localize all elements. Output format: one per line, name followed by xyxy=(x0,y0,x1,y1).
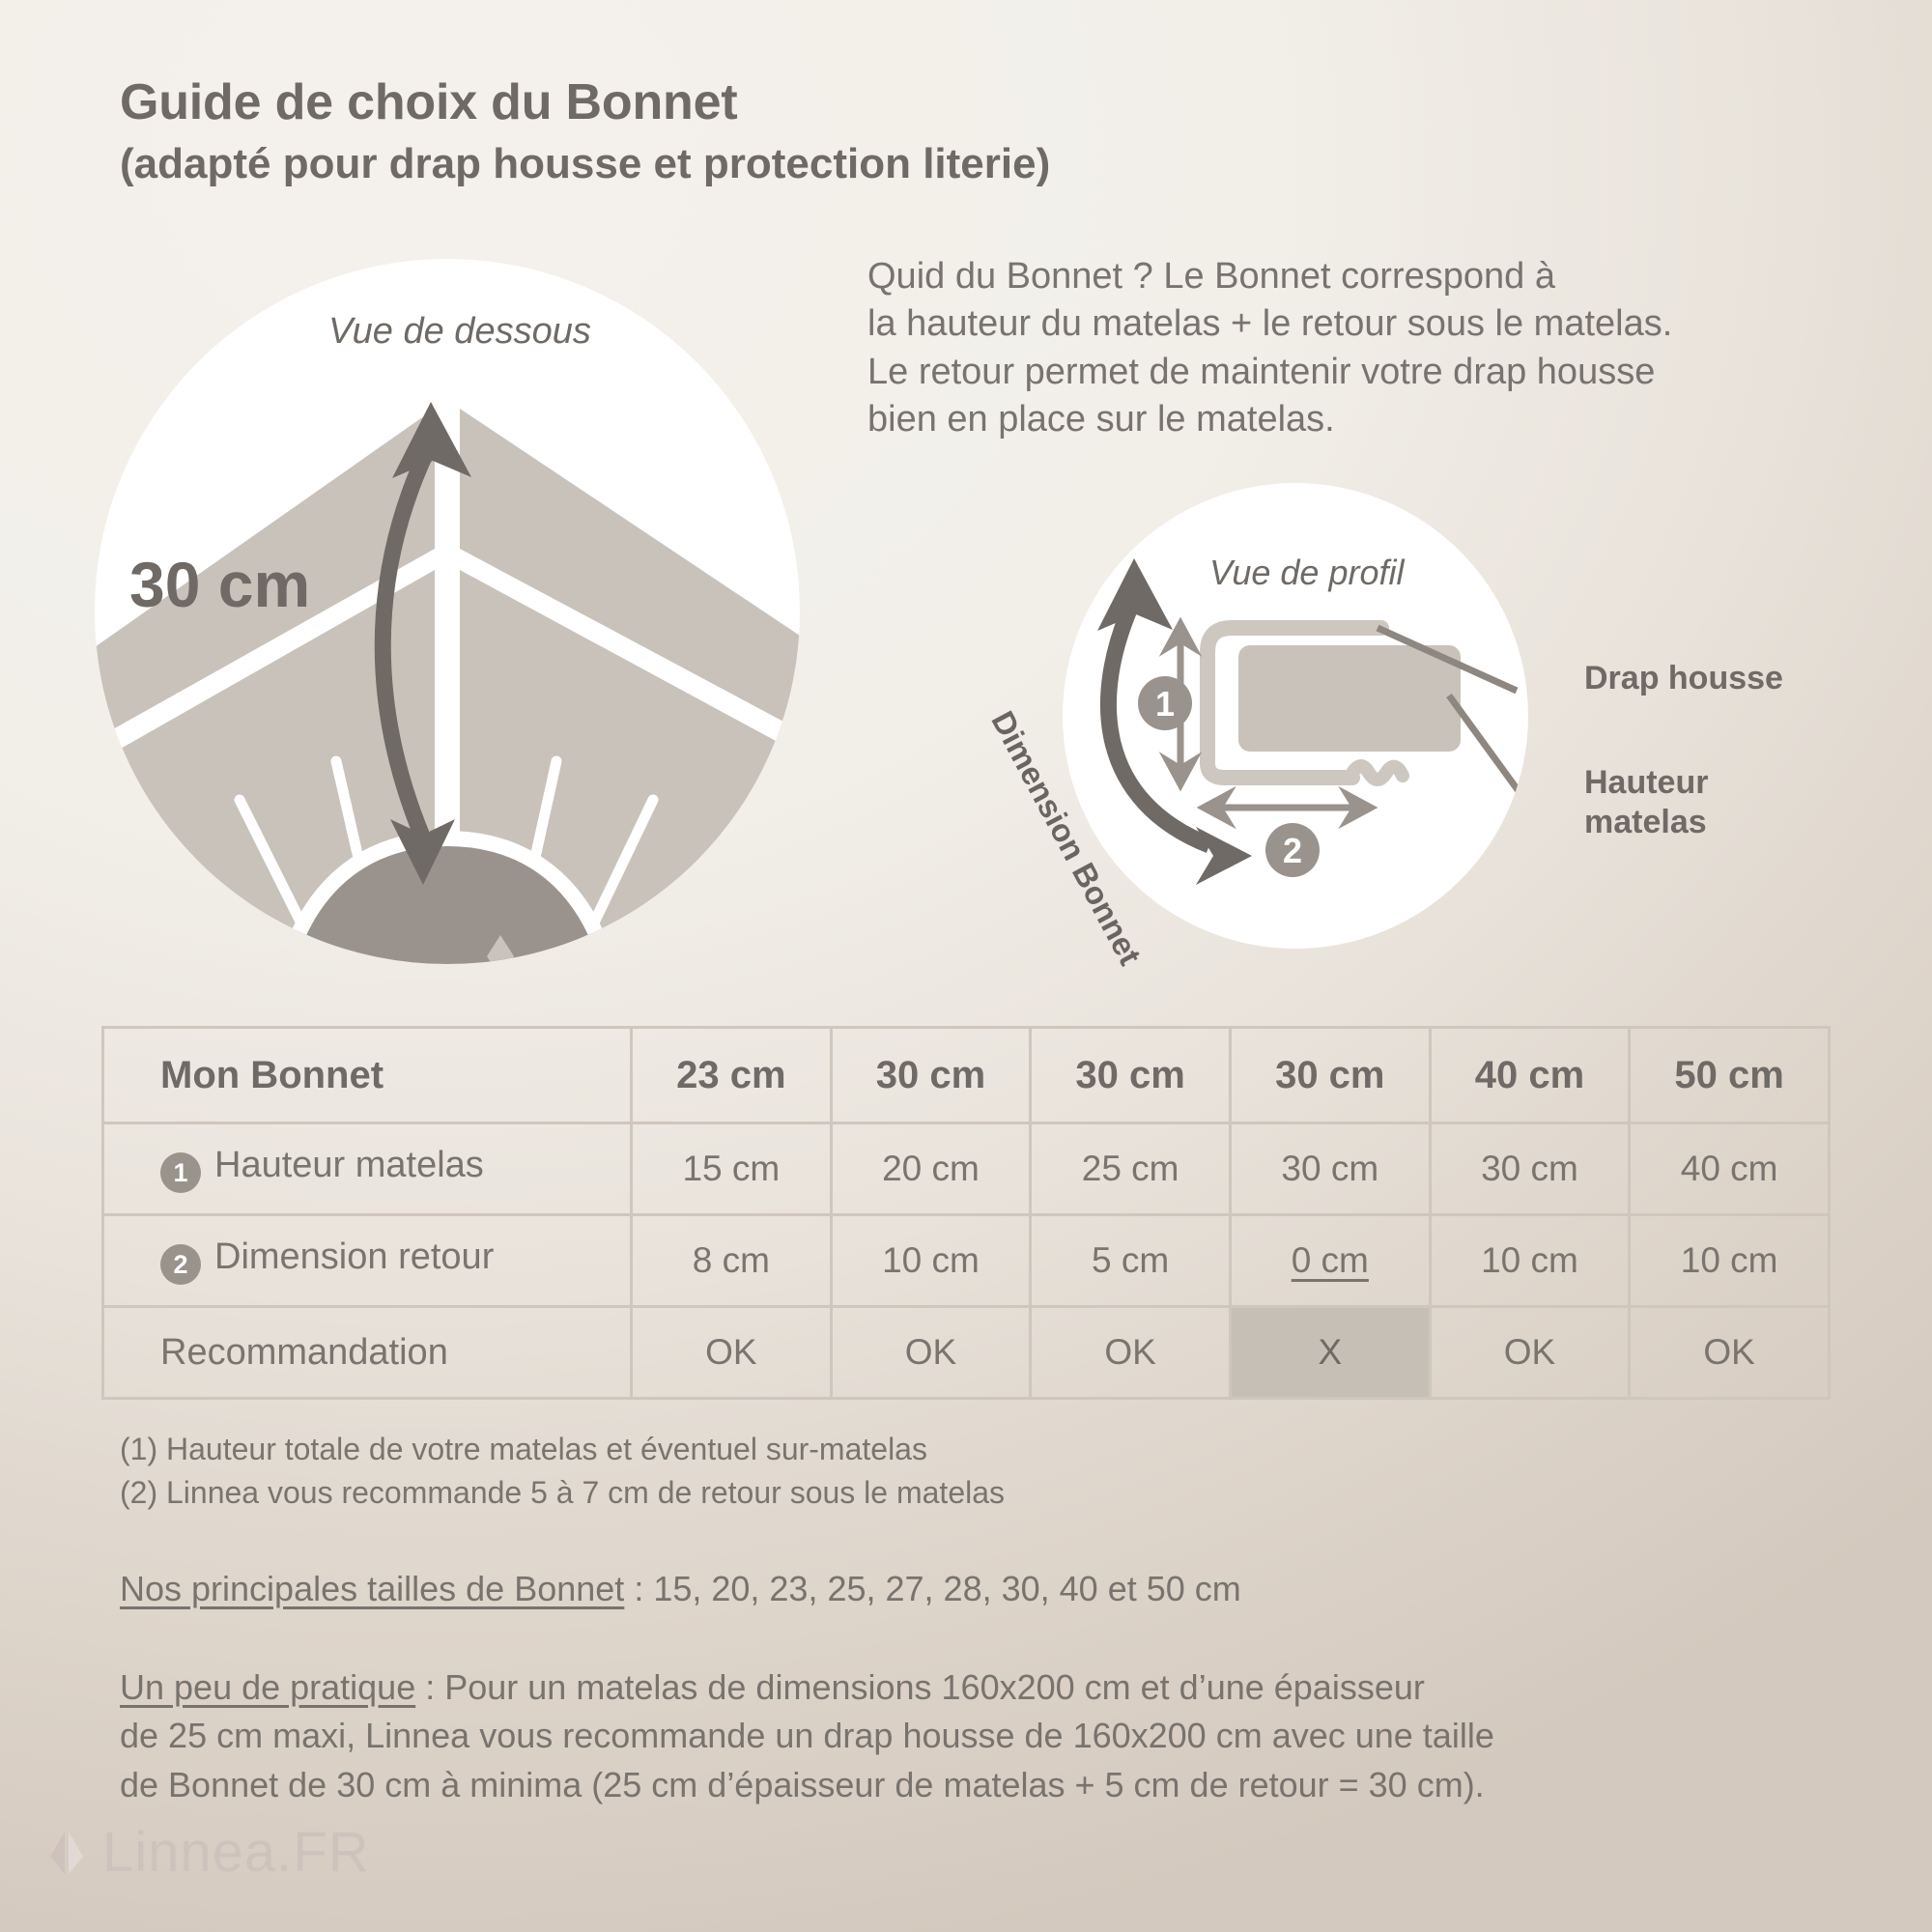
cell-r1c5: 30 cm xyxy=(1430,1123,1630,1215)
practice-line-2: de 25 cm maxi, Linnea vous recommande un… xyxy=(120,1712,1849,1760)
table-row: Recommandation OK OK OK X OK OK xyxy=(103,1307,1830,1399)
callout-hauteur-matelas: Hauteur matelas xyxy=(1584,763,1708,843)
table-header-cell-2: 30 cm xyxy=(831,1028,1031,1123)
cell-r2c3: 5 cm xyxy=(1031,1215,1231,1307)
profile-view-label: Vue de profil xyxy=(1209,553,1404,593)
cell-r3c1: OK xyxy=(632,1307,832,1399)
row-label-dimension-retour: 2Dimension retour xyxy=(103,1215,632,1307)
practice-line-1: Un peu de pratique : Pour un matelas de … xyxy=(120,1663,1849,1712)
table-header-row: Mon Bonnet 23 cm 30 cm 30 cm 30 cm 40 cm… xyxy=(103,1028,1830,1123)
intro-line-2: la hauteur du matelas + le retour sous l… xyxy=(867,300,1824,348)
cell-r3c3: OK xyxy=(1031,1307,1231,1399)
linnea-logo[interactable]: Linnea.FR xyxy=(44,1820,370,1885)
cell-r2c1: 8 cm xyxy=(632,1215,832,1307)
intro-paragraph: Quid du Bonnet ? Le Bonnet correspond à … xyxy=(867,253,1824,444)
practice-line-3: de Bonnet de 30 cm à minima (25 cm d’épa… xyxy=(120,1761,1849,1809)
callout-drap-housse: Drap housse xyxy=(1584,659,1783,698)
available-sizes-line: Nos principales tailles de Bonnet : 15, … xyxy=(120,1569,1241,1609)
cell-r3c2: OK xyxy=(831,1307,1031,1399)
cell-r3c5: OK xyxy=(1430,1307,1630,1399)
cell-r2c4-value: 0 cm xyxy=(1292,1240,1369,1280)
table-header-cell-4: 30 cm xyxy=(1230,1028,1430,1123)
row-label-hauteur-matelas: 1Hauteur matelas xyxy=(103,1123,632,1215)
callout-hauteur-line-2: matelas xyxy=(1584,803,1708,842)
cell-r1c1: 15 cm xyxy=(632,1123,832,1215)
bonnet-comparison-table: Mon Bonnet 23 cm 30 cm 30 cm 30 cm 40 cm… xyxy=(101,1026,1831,1400)
intro-line-3: Le retour permet de maintenir votre drap… xyxy=(867,349,1824,396)
cell-r3c6: OK xyxy=(1630,1307,1830,1399)
linnea-logo-text: Linnea.FR xyxy=(102,1820,370,1885)
mattress-block xyxy=(1238,645,1461,752)
page-header: Guide de choix du Bonnet (adapté pour dr… xyxy=(120,75,1050,187)
table-header-cell-5: 40 cm xyxy=(1430,1028,1630,1123)
available-sizes-values: : 15, 20, 23, 25, 27, 28, 30, 40 et 50 c… xyxy=(624,1569,1240,1608)
callout-hauteur-line-1: Hauteur xyxy=(1584,763,1708,803)
page-subtitle: (adapté pour drap housse et protection l… xyxy=(120,141,1050,187)
cell-r2c2: 10 cm xyxy=(831,1215,1031,1307)
table-header-cell-3: 30 cm xyxy=(1031,1028,1231,1123)
intro-line-1: Quid du Bonnet ? Le Bonnet correspond à xyxy=(867,253,1824,300)
svg-text:2: 2 xyxy=(1283,831,1302,870)
row-label-text: Dimension retour xyxy=(214,1236,494,1277)
practice-line-1-rest: : Pour un matelas de dimensions 160x200 … xyxy=(415,1667,1425,1707)
intro-line-4: bien en place sur le matelas. xyxy=(867,396,1824,443)
row-label-text: Hauteur matelas xyxy=(214,1145,484,1185)
bonnet-measure-value: 30 cm xyxy=(129,548,310,621)
table-row: 2Dimension retour 8 cm 10 cm 5 cm 0 cm 1… xyxy=(103,1215,1830,1307)
cell-r3c4-not-recommended: X xyxy=(1230,1307,1430,1399)
linnea-mark-icon xyxy=(44,1828,89,1878)
bottom-view-label: Vue de dessous xyxy=(328,311,591,353)
cell-r2c5: 10 cm xyxy=(1430,1215,1630,1307)
table-header-cell-1: 23 cm xyxy=(632,1028,832,1123)
row-label-recommandation: Recommandation xyxy=(103,1307,632,1399)
svg-text:1: 1 xyxy=(1155,684,1175,724)
cell-r2c4: 0 cm xyxy=(1230,1215,1430,1307)
practice-paragraph: Un peu de pratique : Pour un matelas de … xyxy=(120,1663,1849,1809)
practice-label: Un peu de pratique xyxy=(120,1667,415,1707)
footnote-1: (1) Hauteur totale de votre matelas et é… xyxy=(120,1428,1005,1471)
cell-r1c4: 30 cm xyxy=(1230,1123,1430,1215)
available-sizes-label: Nos principales tailles de Bonnet xyxy=(120,1569,624,1608)
cell-r1c3: 25 cm xyxy=(1031,1123,1231,1215)
table-row: 1Hauteur matelas 15 cm 20 cm 25 cm 30 cm… xyxy=(103,1123,1830,1215)
row-badge-1: 1 xyxy=(160,1152,201,1193)
page-title: Guide de choix du Bonnet xyxy=(120,75,1050,129)
footnote-2: (2) Linnea vous recommande 5 à 7 cm de r… xyxy=(120,1471,1005,1515)
cell-r1c2: 20 cm xyxy=(831,1123,1031,1215)
row-badge-2: 2 xyxy=(160,1244,201,1285)
table-header-cell-6: 50 cm xyxy=(1630,1028,1830,1123)
marker-badge-1: 1 xyxy=(1138,676,1192,730)
cell-r2c6: 10 cm xyxy=(1630,1215,1830,1307)
footnotes: (1) Hauteur totale de votre matelas et é… xyxy=(120,1428,1005,1516)
marker-badge-2: 2 xyxy=(1265,823,1320,877)
table-header-label: Mon Bonnet xyxy=(103,1028,632,1123)
cell-r1c6: 40 cm xyxy=(1630,1123,1830,1215)
